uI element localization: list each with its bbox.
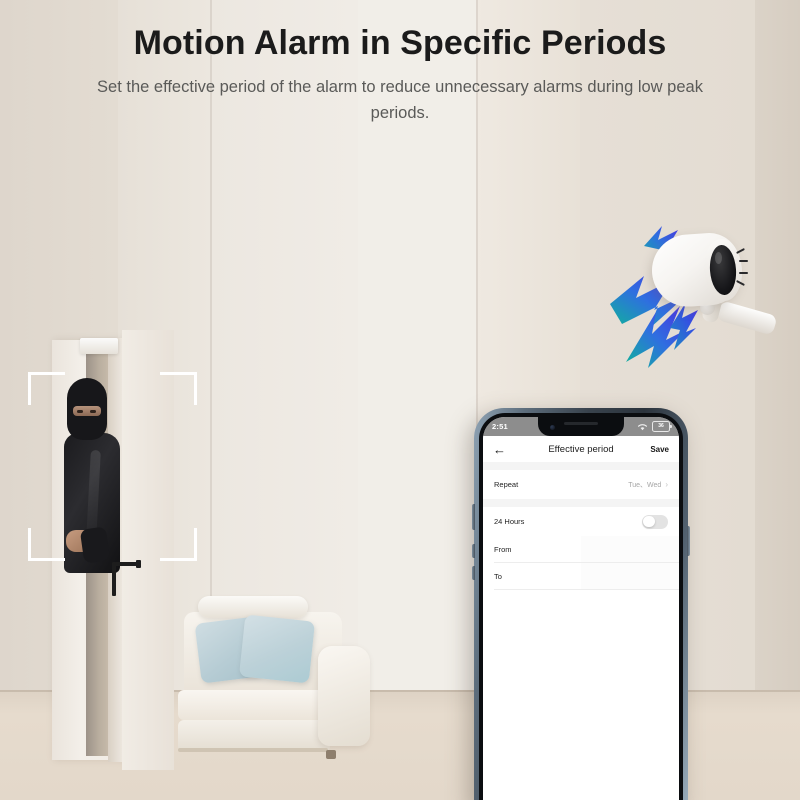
detection-bracket-top-right xyxy=(160,372,197,405)
row-from-label: From xyxy=(494,545,512,554)
sofa-armrest xyxy=(318,646,370,746)
detection-bracket-bottom-right xyxy=(160,528,197,561)
living-room-sofa xyxy=(176,580,388,765)
camera-lens-glint xyxy=(715,252,722,264)
front-camera-icon xyxy=(550,425,555,430)
phone-screen: 2:51 36 ← Effective period Save xyxy=(483,417,679,800)
door-handle-bar xyxy=(112,562,116,596)
row-repeat-label: Repeat xyxy=(494,480,518,489)
status-indicators: 36 xyxy=(637,421,670,432)
row-to-value-band xyxy=(581,563,679,590)
security-camera xyxy=(600,222,780,372)
camera-ir-prong-2 xyxy=(739,260,748,262)
row-24-hours[interactable]: 24 Hours xyxy=(483,507,679,536)
battery-icon: 36 xyxy=(652,421,670,432)
page-title: Motion Alarm in Specific Periods xyxy=(0,24,800,63)
row-24-hours-label: 24 Hours xyxy=(494,517,524,526)
intruder-eye-left xyxy=(77,410,83,413)
row-repeat-right: Tue、Wed › xyxy=(628,480,668,490)
sofa-rail xyxy=(178,748,328,752)
toggle-knob xyxy=(643,516,655,528)
sofa-seat-cushion xyxy=(178,690,330,720)
row-to[interactable]: To 18:00 › xyxy=(483,563,679,590)
throw-pillow-right xyxy=(239,615,315,684)
earpiece-speaker xyxy=(564,422,598,425)
phone-button-volume-down[interactable] xyxy=(472,566,475,580)
row-to-label: To xyxy=(494,572,502,581)
row-to-divider xyxy=(494,589,679,590)
page-subtitle: Set the effective period of the alarm to… xyxy=(70,75,730,126)
sofa-foot xyxy=(326,750,336,759)
intruder-eye-right xyxy=(90,410,96,413)
wifi-icon xyxy=(637,423,648,431)
phone-button-silent[interactable] xyxy=(472,504,475,530)
promo-heading-block: Motion Alarm in Specific Periods Set the… xyxy=(0,24,800,126)
chevron-right-icon: › xyxy=(665,481,668,489)
section-gap-middle xyxy=(483,499,679,507)
camera-mount xyxy=(716,300,777,335)
camera-ir-prong-3 xyxy=(739,272,748,274)
phone-mockup: 2:51 36 ← Effective period Save xyxy=(474,408,688,800)
row-24-hours-right xyxy=(642,515,668,529)
door-sensor xyxy=(80,338,118,354)
phone-button-volume-up[interactable] xyxy=(472,544,475,558)
screen-empty-area xyxy=(483,590,679,800)
save-button[interactable]: Save xyxy=(650,445,669,454)
phone-notch xyxy=(538,417,624,436)
24-hours-toggle[interactable] xyxy=(642,515,668,529)
row-repeat-value: Tue、Wed xyxy=(628,480,661,490)
door-handle-tip xyxy=(136,560,141,568)
app-nav-bar: ← Effective period Save xyxy=(483,436,679,462)
phone-button-power[interactable] xyxy=(687,526,690,556)
battery-level: 36 xyxy=(658,424,664,429)
back-arrow-icon[interactable]: ← xyxy=(493,443,506,456)
camera-ir-prong-1 xyxy=(736,248,745,254)
row-from[interactable]: From 09:00 › xyxy=(483,536,679,563)
promo-scene: Motion Alarm in Specific Periods Set the… xyxy=(0,0,800,800)
status-time: 2:51 xyxy=(492,422,508,431)
detection-bracket-top-left xyxy=(28,372,65,405)
section-gap-top xyxy=(483,462,679,470)
intruder-glove xyxy=(80,526,110,563)
alert-bolt-small-right xyxy=(666,300,704,350)
row-from-value-band xyxy=(581,536,679,563)
row-repeat[interactable]: Repeat Tue、Wed › xyxy=(483,470,679,499)
detection-bracket-bottom-left xyxy=(28,528,65,561)
